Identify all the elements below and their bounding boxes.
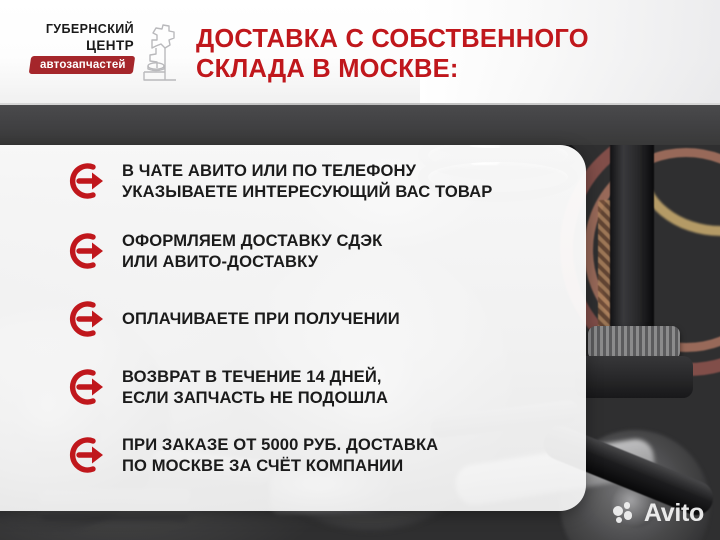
list-item-text: ОФОРМЛЯЕМ ДОСТАВКУ СДЭК ИЛИ АВИТО-ДОСТАВ… [122,230,382,273]
header-divider-band [0,105,720,145]
company-logo[interactable]: ГУБЕРНСКИЙ ЦЕНТР автозапчастей [22,22,177,86]
list-item-text: ОПЛАЧИВАЕТЕ ПРИ ПОЛУЧЕНИИ [122,308,400,330]
page-title: ДОСТАВКА С СОБСТВЕННОГО СКЛАДА В МОСКВЕ: [196,24,696,84]
list-item-line-1: ОФОРМЛЯЕМ ДОСТАВКУ СДЭК [122,230,382,252]
list-item-line-1: ПРИ ЗАКАЗЕ ОТ 5000 РУБ. ДОСТАВКА [122,434,438,456]
list-item-line-1: ОПЛАЧИВАЕТЕ ПРИ ПОЛУЧЕНИИ [122,308,400,330]
list-item: ОПЛАЧИВАЕТЕ ПРИ ПОЛУЧЕНИИ [62,297,582,341]
avito-watermark: Avito [613,498,704,528]
list-item: ОФОРМЛЯЕМ ДОСТАВКУ СДЭК ИЛИ АВИТО-ДОСТАВ… [62,229,582,273]
title-line-1: ДОСТАВКА С СОБСТВЕННОГО [196,24,696,54]
list-item-line-1: ВОЗВРАТ В ТЕЧЕНИЕ 14 ДНЕЙ, [122,366,388,388]
logo-badge: автозапчастей [29,56,135,74]
list-item-line-1: В ЧАТЕ АВИТО ИЛИ ПО ТЕЛЕФОНУ [122,160,492,182]
car-jack-gear-outline-icon [132,24,180,86]
title-line-2: СКЛАДА В МОСКВЕ: [196,54,696,84]
list-item-text: ВОЗВРАТ В ТЕЧЕНИЕ 14 ДНЕЙ, ЕСЛИ ЗАПЧАСТЬ… [122,366,388,409]
circular-arrow-right-icon [62,433,110,477]
list-item-line-2: ПО МОСКВЕ ЗА СЧЁТ КОМПАНИИ [122,455,438,477]
logo-wordmark: ГУБЕРНСКИЙ ЦЕНТР автозапчастей [22,22,134,74]
avito-wordmark: Avito [644,501,704,526]
list-item: ПРИ ЗАКАЗЕ ОТ 5000 РУБ. ДОСТАВКА ПО МОСК… [62,433,582,477]
logo-line-1: ГУБЕРНСКИЙ [22,22,134,37]
circular-arrow-right-icon [62,229,110,273]
logo-badge-label: автозапчастей [40,59,126,71]
list-item-line-2: ЕСЛИ ЗАПЧАСТЬ НЕ ПОДОШЛА [122,387,388,409]
logo-line-2: ЦЕНТР [22,37,134,54]
list-item: ВОЗВРАТ В ТЕЧЕНИЕ 14 ДНЕЙ, ЕСЛИ ЗАПЧАСТЬ… [62,365,582,409]
steps-list: В ЧАТЕ АВИТО ИЛИ ПО ТЕЛЕФОНУ УКАЗЫВАЕТЕ … [62,159,582,477]
list-item-text: ПРИ ЗАКАЗЕ ОТ 5000 РУБ. ДОСТАВКА ПО МОСК… [122,434,438,477]
list-item-line-2: ИЛИ АВИТО-ДОСТАВКУ [122,251,382,273]
circular-arrow-right-icon [62,159,110,203]
list-item: В ЧАТЕ АВИТО ИЛИ ПО ТЕЛЕФОНУ УКАЗЫВАЕТЕ … [62,159,582,203]
list-item-text: В ЧАТЕ АВИТО ИЛИ ПО ТЕЛЕФОНУ УКАЗЫВАЕТЕ … [122,160,492,203]
delivery-info-banner: ГУБЕРНСКИЙ ЦЕНТР автозапчастей ДОСТАВКА … [0,0,720,540]
circular-arrow-right-icon [62,365,110,409]
circular-arrow-right-icon [62,297,110,341]
avito-dots-icon [613,502,639,524]
list-item-line-2: УКАЗЫВАЕТЕ ИНТЕРЕСУЮЩИЙ ВАС ТОВАР [122,181,492,203]
